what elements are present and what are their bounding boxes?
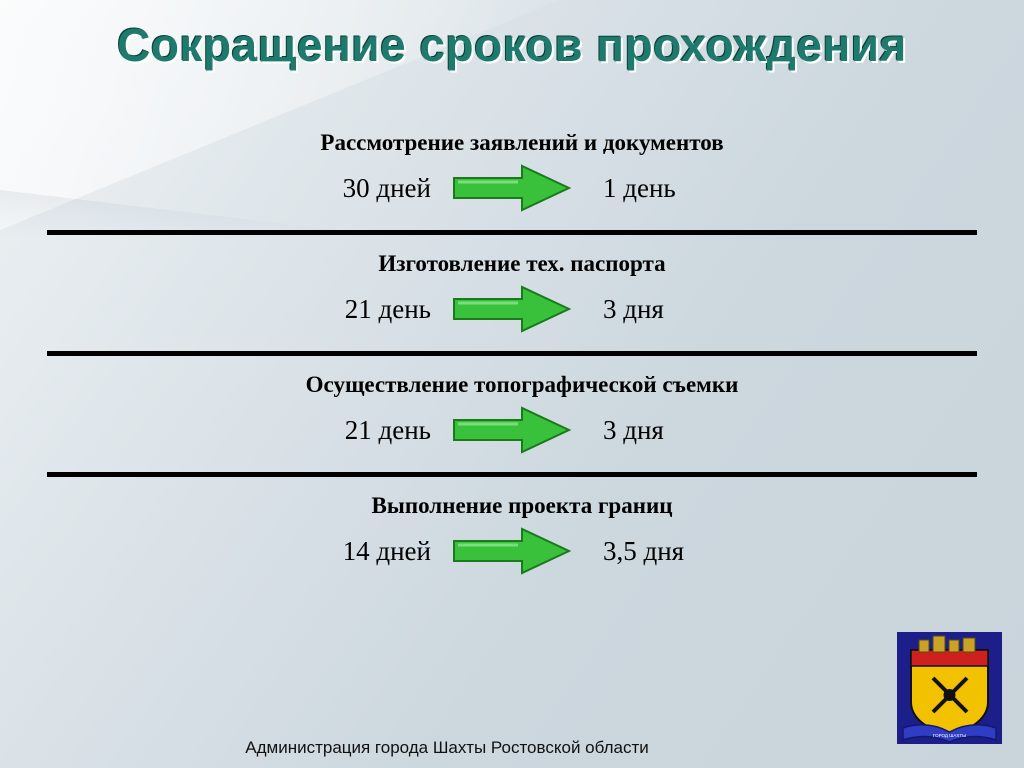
right-arrow-icon bbox=[452, 406, 572, 454]
process-title: Изготовление тех. паспорта bbox=[0, 251, 1024, 277]
process-title: Осуществление топографической съемки bbox=[0, 372, 1024, 398]
process-row: 21 день 3 дня bbox=[0, 406, 1024, 454]
duration-after: 3 дня bbox=[577, 294, 833, 325]
process-block: Выполнение проекта границ 14 дней 3,5 дн… bbox=[0, 493, 1024, 575]
process-row: 30 дней 1 день bbox=[0, 164, 1024, 212]
process-block: Изготовление тех. паспорта 21 день 3 дня bbox=[0, 251, 1024, 333]
process-row: 21 день 3 дня bbox=[0, 285, 1024, 333]
duration-before: 14 дней bbox=[201, 536, 447, 567]
content-area: Рассмотрение заявлений и документов 30 д… bbox=[0, 130, 1024, 575]
process-title: Рассмотрение заявлений и документов bbox=[0, 130, 1024, 156]
coat-of-arms-shakhty: ГОРОД ШАХТЫ bbox=[897, 632, 1002, 744]
duration-after: 1 день bbox=[577, 173, 833, 204]
arrow-cell bbox=[447, 285, 577, 333]
arrow-cell bbox=[447, 406, 577, 454]
footer-text: Администрация города Шахты Ростовской об… bbox=[0, 738, 1024, 758]
process-row: 14 дней 3,5 дня bbox=[0, 527, 1024, 575]
duration-before: 21 день bbox=[201, 415, 447, 446]
right-arrow-icon bbox=[452, 527, 572, 575]
right-arrow-icon bbox=[452, 285, 572, 333]
duration-before: 21 день bbox=[201, 294, 447, 325]
arrow-cell bbox=[447, 527, 577, 575]
page-title: Сокращение сроков прохождения bbox=[0, 18, 1024, 72]
slide: Сокращение сроков прохождения Рассмотрен… bbox=[0, 0, 1024, 768]
process-block: Осуществление топографической съемки 21 … bbox=[0, 372, 1024, 454]
process-title: Выполнение проекта границ bbox=[0, 493, 1024, 519]
divider bbox=[47, 230, 977, 235]
duration-before: 30 дней bbox=[201, 173, 447, 204]
process-block: Рассмотрение заявлений и документов 30 д… bbox=[0, 130, 1024, 212]
divider bbox=[47, 472, 977, 477]
duration-after: 3,5 дня bbox=[577, 536, 833, 567]
right-arrow-icon bbox=[452, 164, 572, 212]
arrow-cell bbox=[447, 164, 577, 212]
duration-after: 3 дня bbox=[577, 415, 833, 446]
divider bbox=[47, 351, 977, 356]
